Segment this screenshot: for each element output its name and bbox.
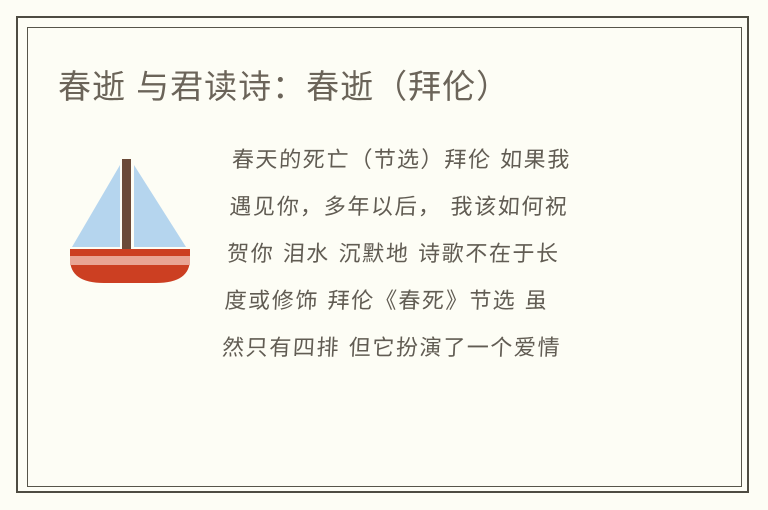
poem-line: 春天的死亡（节选）拜伦 如果我 [231,137,653,184]
poem-line: 度或修饰 拜伦《春死》节选 虽 [223,278,645,325]
mast-shape [122,159,131,255]
sailboat-graphic [64,155,196,287]
page-title: 春逝 与君读诗：春逝（拜伦） [58,65,510,109]
left-sail-shape [72,165,120,247]
poem-line: 遇见你，多年以后， 我该如何祝 [228,184,650,231]
card-content: 春逝 与君读诗：春逝（拜伦） 春天的死亡（节选）拜伦 如果我 [27,27,742,487]
right-sail-shape [134,165,186,247]
poem-card-page: 春逝 与君读诗：春逝（拜伦） 春天的死亡（节选）拜伦 如果我 [0,0,768,510]
hull-stripe-shape [70,256,190,265]
poem-text-block: 春天的死亡（节选）拜伦 如果我 遇见你，多年以后， 我该如何祝 贺你 泪水 沉默… [221,137,653,372]
sailboat-icon [64,155,196,287]
poem-line: 然只有四排 但它扮演了一个爱情 [221,325,643,372]
hull-shape [70,249,190,283]
poem-line: 贺你 泪水 沉默地 诗歌不在于长 [226,231,648,278]
card-body: 春天的死亡（节选）拜伦 如果我 遇见你，多年以后， 我该如何祝 贺你 泪水 沉默… [27,137,742,437]
